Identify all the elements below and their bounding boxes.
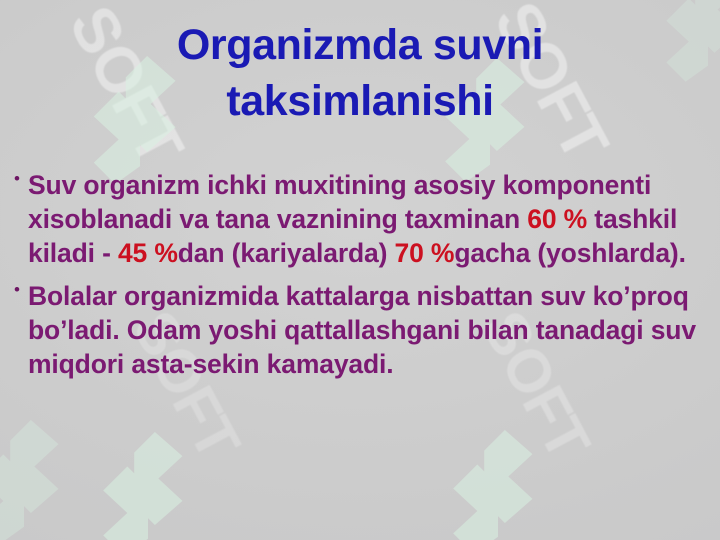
brand-logo-watermark bbox=[96, 432, 200, 540]
highlighted-value: 45 % bbox=[118, 238, 178, 268]
list-item: • Suv organizm ichki muxitining asosiy k… bbox=[6, 168, 710, 271]
slide-title: Organizmda suvni taksimlanishi bbox=[0, 18, 720, 130]
text-run: dan (kariyalarda) bbox=[178, 238, 395, 268]
bullet-dot-icon: • bbox=[6, 279, 28, 290]
bullet-text-1: Suv organizm ichki muxitining asosiy kom… bbox=[28, 168, 710, 271]
highlighted-value: 70 % bbox=[395, 238, 455, 268]
highlighted-value: 60 % bbox=[527, 204, 587, 234]
bullet-text-2: Bolalar organizmida kattalarga nisbattan… bbox=[28, 279, 710, 382]
bullet-dot-icon: • bbox=[6, 168, 28, 179]
slide-title-line-1: Organizmda suvni bbox=[0, 18, 720, 74]
presentation-slide: SOFT SOFT SOFT SOFT bbox=[0, 0, 720, 540]
slide-body: • Suv organizm ichki muxitining asosiy k… bbox=[6, 168, 710, 389]
text-run: Bolalar organizmida kattalarga nisbattan… bbox=[28, 281, 696, 379]
brand-logo-watermark bbox=[0, 420, 76, 540]
list-item: • Bolalar organizmida kattalarga nisbatt… bbox=[6, 279, 710, 382]
text-run: gacha (yoshlarda). bbox=[454, 238, 685, 268]
brand-logo-watermark bbox=[446, 430, 550, 540]
slide-title-line-2: taksimlanishi bbox=[0, 74, 720, 130]
